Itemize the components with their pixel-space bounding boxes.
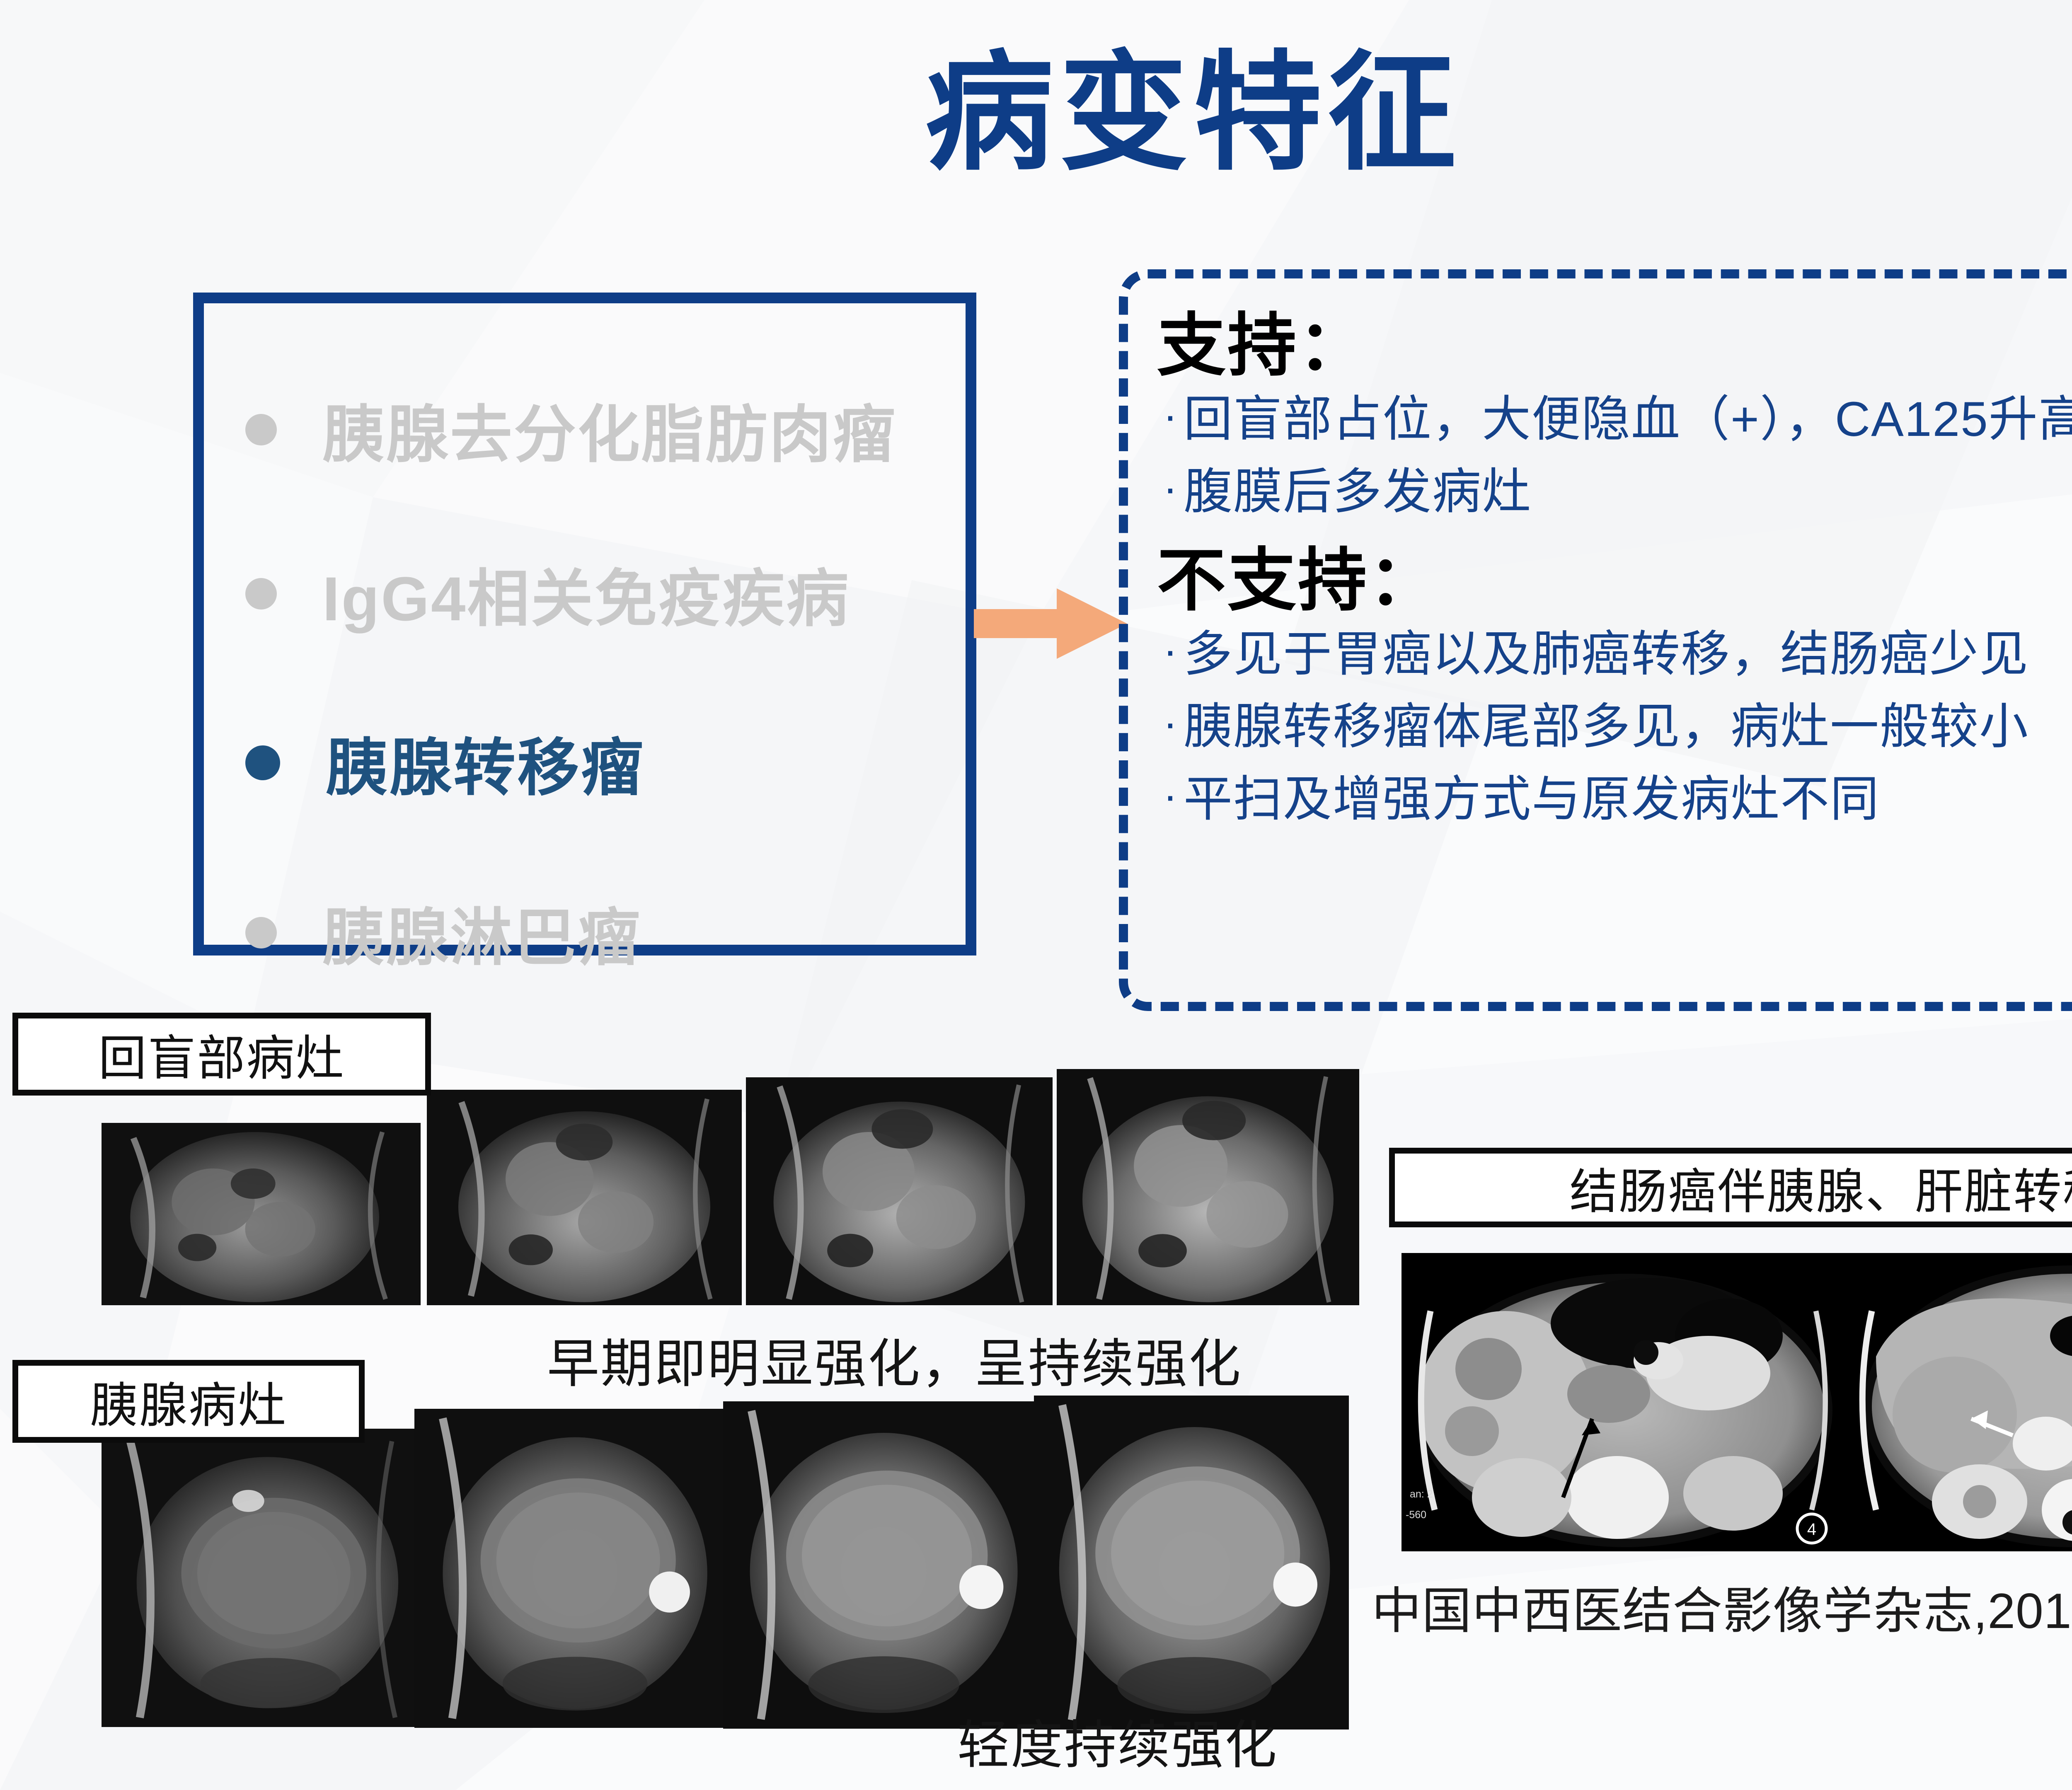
list-item[interactable]: 胰腺去分化脂肪肉瘤 bbox=[245, 385, 897, 474]
support-heading: 支持： bbox=[1157, 307, 2072, 385]
list-item-label: 回盲部占位，大便隐血（+），CA125升高 bbox=[1184, 389, 2072, 450]
mri-pancreas-phase-3 bbox=[723, 1401, 1038, 1729]
differential-list: 胰腺去分化脂肪肉瘤 IgG4相关免疫疾病 胰腺转移瘤 胰腺淋巴瘤 bbox=[204, 303, 966, 945]
citation-text: 中国中西医结合影像学杂志,2018,16(1):69-71 bbox=[1372, 1570, 2072, 1642]
against-list: · 多见于胃癌以及肺癌转移，结肠癌少见 · 胰腺转移瘤体尾部多见，病灶一般较小 … bbox=[1157, 624, 2072, 830]
bullet-dot-icon: · bbox=[1157, 769, 1184, 822]
caption-pancreas-enhancement: 轻度持续强化 bbox=[957, 1703, 1278, 1778]
bullet-dot-icon bbox=[245, 917, 277, 948]
figure-label-ileocecal: 回盲部病灶 bbox=[12, 1013, 431, 1096]
list-item[interactable]: IgG4相关免疫疾病 bbox=[245, 549, 850, 639]
list-item-label: 胰腺淋巴瘤 bbox=[322, 888, 641, 977]
ct-image-pancreas-metastasis: 4 an: 2 -560 bbox=[1402, 1253, 1847, 1551]
list-item-label: 胰腺转移瘤 bbox=[326, 718, 645, 808]
list-item-label: 腹膜后多发病灶 bbox=[1184, 461, 1532, 523]
svg-text:4: 4 bbox=[1807, 1520, 1816, 1538]
mri-ileocecal-phase-1 bbox=[102, 1123, 421, 1305]
list-item-label: 多见于胃癌以及肺癌转移，结肠癌少见 bbox=[1184, 624, 2029, 685]
mri-pancreas-phase-1 bbox=[102, 1429, 421, 1727]
against-heading: 不支持： bbox=[1157, 542, 2072, 619]
bullet-dot-icon bbox=[245, 745, 280, 780]
list-item: · 平扫及增强方式与原发病灶不同 bbox=[1157, 769, 2072, 830]
caption-ileocecal-enhancement: 早期即明显强化，呈持续强化 bbox=[547, 1322, 1242, 1397]
bullet-dot-icon bbox=[245, 414, 277, 445]
ct-image-liver-metastasis: 5 bbox=[1847, 1253, 2072, 1551]
bullet-dot-icon bbox=[245, 578, 277, 610]
bullet-dot-icon: · bbox=[1157, 461, 1184, 515]
bullet-dot-icon: · bbox=[1157, 389, 1184, 443]
list-item: · 胰腺转移瘤体尾部多见，病灶一般较小 bbox=[1157, 696, 2072, 758]
evidence-panel: 支持： · 回盲部占位，大便隐血（+），CA125升高 · 腹膜后多发病灶 不支… bbox=[1119, 269, 2072, 1011]
list-item-active[interactable]: 胰腺转移瘤 bbox=[245, 718, 645, 808]
svg-text:-560: -560 bbox=[1406, 1509, 1426, 1521]
mri-ileocecal-phase-4 bbox=[1057, 1069, 1359, 1305]
list-item[interactable]: 胰腺淋巴瘤 bbox=[245, 888, 641, 977]
page-title: 病变特征 bbox=[0, 46, 2072, 181]
figure-label-pancreas: 胰腺病灶 bbox=[12, 1360, 365, 1443]
list-item-label: 胰腺转移瘤体尾部多见，病灶一般较小 bbox=[1184, 696, 2029, 758]
list-item-label: 胰腺去分化脂肪肉瘤 bbox=[322, 385, 897, 474]
support-list: · 回盲部占位，大便隐血（+），CA125升高 · 腹膜后多发病灶 bbox=[1157, 389, 2072, 522]
mri-pancreas-phase-2 bbox=[414, 1409, 729, 1728]
arrow-right-icon bbox=[974, 588, 1127, 659]
list-item-label: 平扫及增强方式与原发病灶不同 bbox=[1184, 769, 1880, 830]
mri-ileocecal-phase-2 bbox=[427, 1090, 742, 1305]
figure-label-ct-panel: 结肠癌伴胰腺、肝脏转移 bbox=[1389, 1148, 2072, 1227]
mri-ileocecal-phase-3 bbox=[746, 1077, 1053, 1305]
list-item: · 多见于胃癌以及肺癌转移，结肠癌少见 bbox=[1157, 624, 2072, 685]
differential-diagnosis-box: 胰腺去分化脂肪肉瘤 IgG4相关免疫疾病 胰腺转移瘤 胰腺淋巴瘤 bbox=[193, 293, 976, 955]
slide-canvas: 病变特征 胰腺去分化脂肪肉瘤 IgG4相关免疫疾病 胰腺转移瘤 胰腺淋巴瘤 bbox=[0, 0, 2072, 1790]
list-item: · 腹膜后多发病灶 bbox=[1157, 461, 2072, 523]
svg-text:an: 2: an: 2 bbox=[1410, 1488, 1433, 1500]
bullet-dot-icon: · bbox=[1157, 624, 1184, 677]
mri-pancreas-phase-4 bbox=[1034, 1396, 1349, 1730]
list-item: · 回盲部占位，大便隐血（+），CA125升高 bbox=[1157, 389, 2072, 450]
bullet-dot-icon: · bbox=[1157, 696, 1184, 750]
list-item-label: IgG4相关免疫疾病 bbox=[322, 549, 850, 639]
